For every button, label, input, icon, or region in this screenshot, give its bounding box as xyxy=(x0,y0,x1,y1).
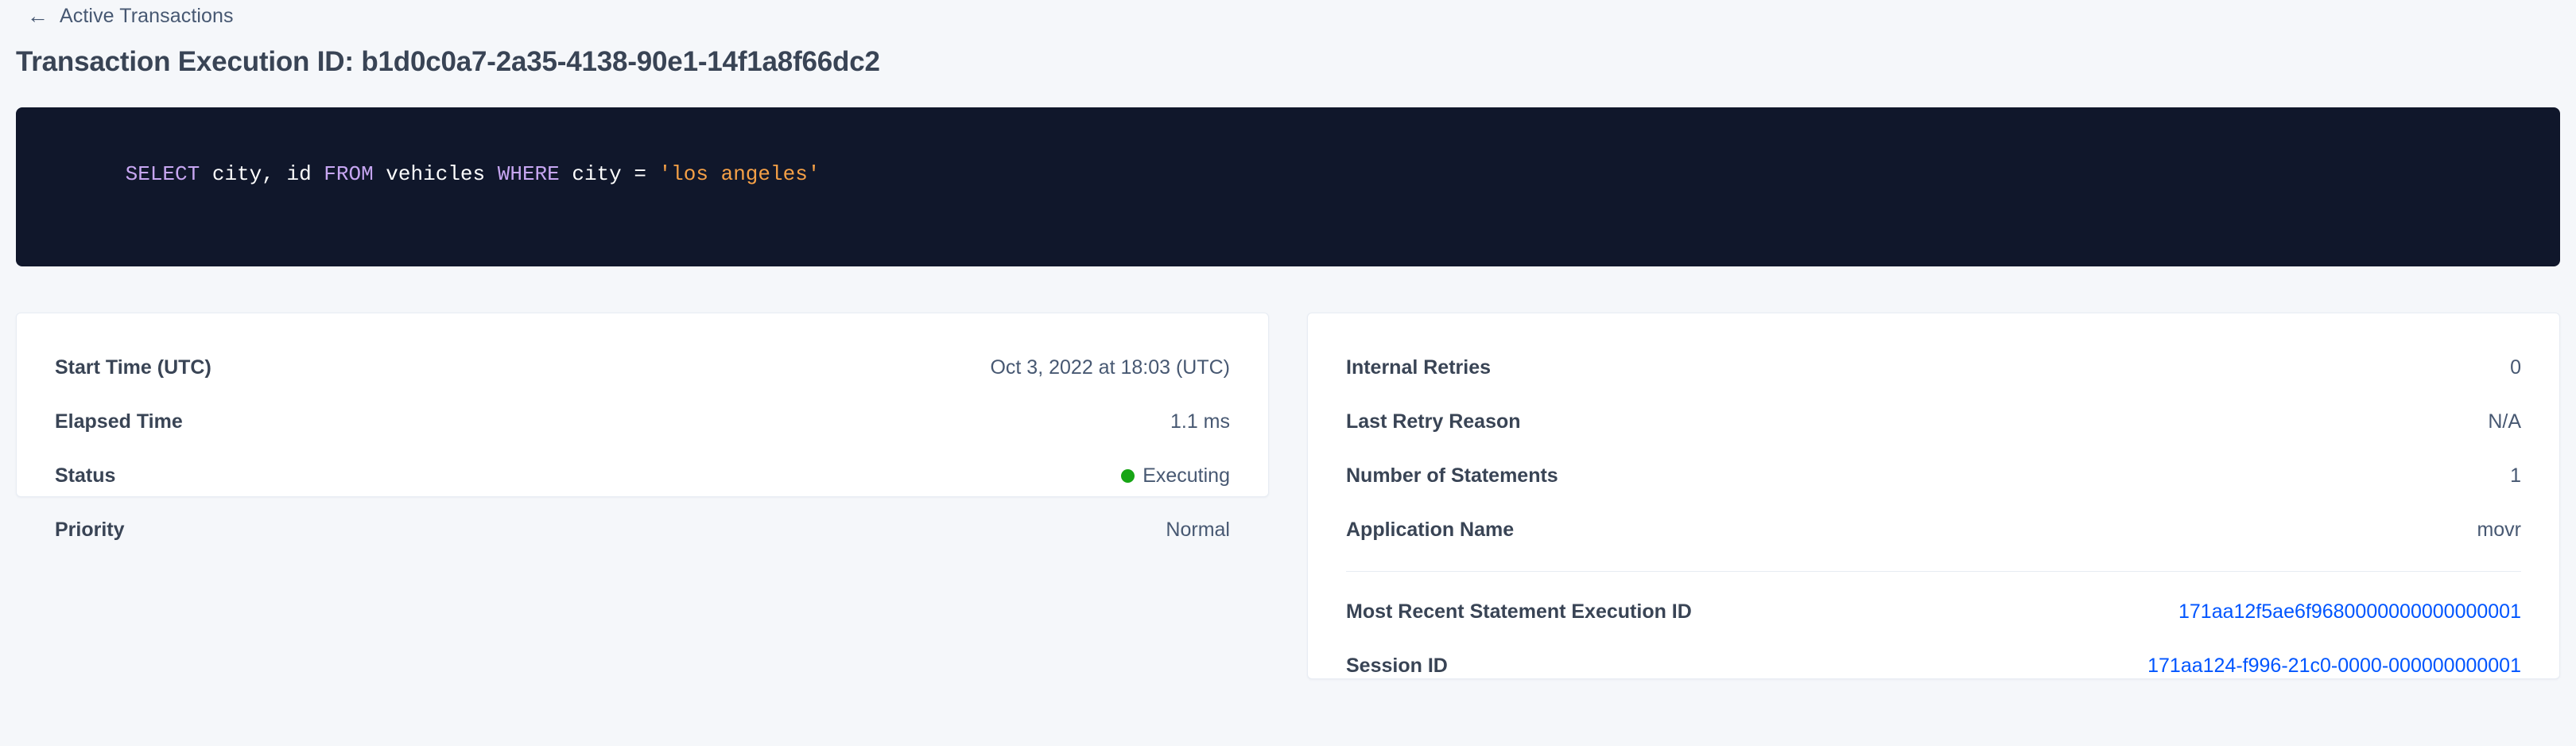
row-application-name: Application Name movr xyxy=(1346,503,2521,557)
statement-execution-id-link[interactable]: 171aa12f5ae6f9680000000000000001 xyxy=(2178,600,2521,624)
card-divider xyxy=(1346,571,2521,572)
details-cards-row: Start Time (UTC) Oct 3, 2022 at 18:03 (U… xyxy=(16,313,2560,679)
sql-string-literal: 'los angeles' xyxy=(659,162,821,186)
row-value: Oct 3, 2022 at 18:03 (UTC) xyxy=(990,356,1230,379)
row-value: N/A xyxy=(2488,410,2521,433)
session-id-link[interactable]: 171aa124-f996-21c0-0000-000000000001 xyxy=(2147,655,2521,678)
row-label: Application Name xyxy=(1346,519,1514,542)
sql-columns: city, id xyxy=(200,162,324,186)
status-dot-icon xyxy=(1121,469,1135,483)
row-label: Start Time (UTC) xyxy=(55,356,211,379)
row-label: Last Retry Reason xyxy=(1346,410,1521,433)
sql-predicate: city = xyxy=(560,162,659,186)
row-most-recent-statement-execution-id: Most Recent Statement Execution ID 171aa… xyxy=(1346,585,2521,639)
row-start-time: Start Time (UTC) Oct 3, 2022 at 18:03 (U… xyxy=(55,340,1230,394)
row-label: Priority xyxy=(55,519,125,542)
row-status: Status Executing xyxy=(55,449,1230,503)
row-label: Status xyxy=(55,464,115,488)
sql-keyword-select: SELECT xyxy=(126,162,200,186)
row-internal-retries: Internal Retries 0 xyxy=(1346,340,2521,394)
row-label: Elapsed Time xyxy=(55,410,183,433)
row-priority: Priority Normal xyxy=(55,503,1230,557)
breadcrumb-back-link[interactable]: ← Active Transactions xyxy=(27,0,234,32)
sql-table: vehicles xyxy=(374,162,498,186)
status-badge: Executing xyxy=(1121,464,1230,488)
sql-keyword-where: WHERE xyxy=(498,162,560,186)
arrow-left-icon: ← xyxy=(27,6,48,27)
transaction-overview-card: Start Time (UTC) Oct 3, 2022 at 18:03 (U… xyxy=(16,313,1269,497)
breadcrumb-label: Active Transactions xyxy=(60,5,234,28)
row-number-of-statements: Number of Statements 1 xyxy=(1346,449,2521,503)
row-value: 1.1 ms xyxy=(1170,410,1230,433)
row-label: Number of Statements xyxy=(1346,464,1558,488)
row-last-retry-reason: Last Retry Reason N/A xyxy=(1346,394,2521,449)
row-value: movr xyxy=(2477,519,2521,542)
sql-statement-line: SELECT city, id FROM vehicles WHERE city… xyxy=(51,134,2525,215)
status-label: Executing xyxy=(1143,464,1230,488)
row-label: Most Recent Statement Execution ID xyxy=(1346,600,1692,624)
row-session-id: Session ID 171aa124-f996-21c0-0000-00000… xyxy=(1346,639,2521,693)
row-label: Internal Retries xyxy=(1346,356,1491,379)
row-label: Session ID xyxy=(1346,655,1448,678)
row-value: 1 xyxy=(2510,464,2521,488)
transaction-details-page: ← Active Transactions Transaction Execut… xyxy=(0,0,2576,746)
row-value: Normal xyxy=(1166,519,1230,542)
row-elapsed-time: Elapsed Time 1.1 ms xyxy=(55,394,1230,449)
transaction-statistics-card: Internal Retries 0 Last Retry Reason N/A… xyxy=(1307,313,2560,679)
sql-keyword-from: FROM xyxy=(324,162,373,186)
page-title: Transaction Execution ID: b1d0c0a7-2a35-… xyxy=(16,46,880,78)
sql-code-block: SELECT city, id FROM vehicles WHERE city… xyxy=(16,107,2560,266)
row-value: 0 xyxy=(2510,356,2521,379)
